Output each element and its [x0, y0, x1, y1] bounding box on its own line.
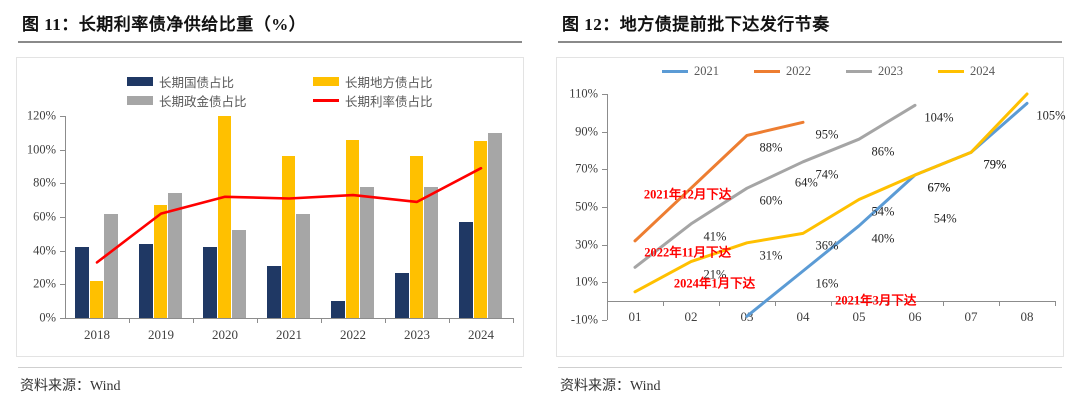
figure-11-source: 资料来源：Wind — [16, 368, 524, 395]
data-label: 54% — [872, 205, 895, 220]
data-label: 67% — [928, 180, 951, 195]
data-label: 31% — [760, 248, 783, 263]
data-label: 36% — [816, 239, 839, 254]
data-label: 74% — [816, 167, 839, 182]
data-label: 86% — [872, 145, 895, 160]
annotation-2021年12月下达: 2021年12月下达 — [644, 184, 732, 203]
data-label: 79% — [984, 158, 1007, 173]
data-label: 104% — [924, 111, 953, 126]
data-label: 64% — [795, 176, 818, 191]
figure-pair-page: 图 11：长期利率债净供给比重（%） 长期国债占比长期地方债占比长期政金债占比长… — [0, 0, 1080, 418]
annotation-2024年1月下达: 2024年1月下达 — [674, 272, 755, 291]
figure-11-chart: 长期国债占比长期地方债占比长期政金债占比长期利率债占比0%20%40%60%80… — [16, 57, 524, 357]
figure-12-chart: 2021202220232024-10%10%30%50%70%90%110%0… — [556, 57, 1064, 357]
data-label: 60% — [760, 194, 783, 209]
data-label: 95% — [816, 128, 839, 143]
annotation-2021年3月下达: 2021年3月下达 — [835, 289, 916, 308]
long-rate-bond-line — [17, 58, 523, 356]
figure-12-title: 图 12：地方债提前批下达发行节奏 — [556, 0, 1064, 41]
figure-11-panel: 图 11：长期利率债净供给比重（%） 长期国债占比长期地方债占比长期政金债占比长… — [0, 0, 540, 418]
figure-12-source: 资料来源：Wind — [556, 368, 1064, 395]
figure-12-title-rule — [558, 41, 1062, 43]
issuance-pace-lines — [557, 58, 1063, 356]
annotation-2022年11月下达: 2022年11月下达 — [644, 242, 731, 261]
figure-12-panel: 图 12：地方债提前批下达发行节奏 2021202220232024-10%10… — [540, 0, 1080, 418]
data-label: 88% — [760, 141, 783, 156]
data-label: 40% — [872, 231, 895, 246]
data-label: 105% — [1036, 109, 1065, 124]
figure-11-title: 图 11：长期利率债净供给比重（%） — [16, 0, 524, 41]
data-label: 54% — [934, 212, 957, 227]
figure-11-title-rule — [18, 41, 522, 43]
